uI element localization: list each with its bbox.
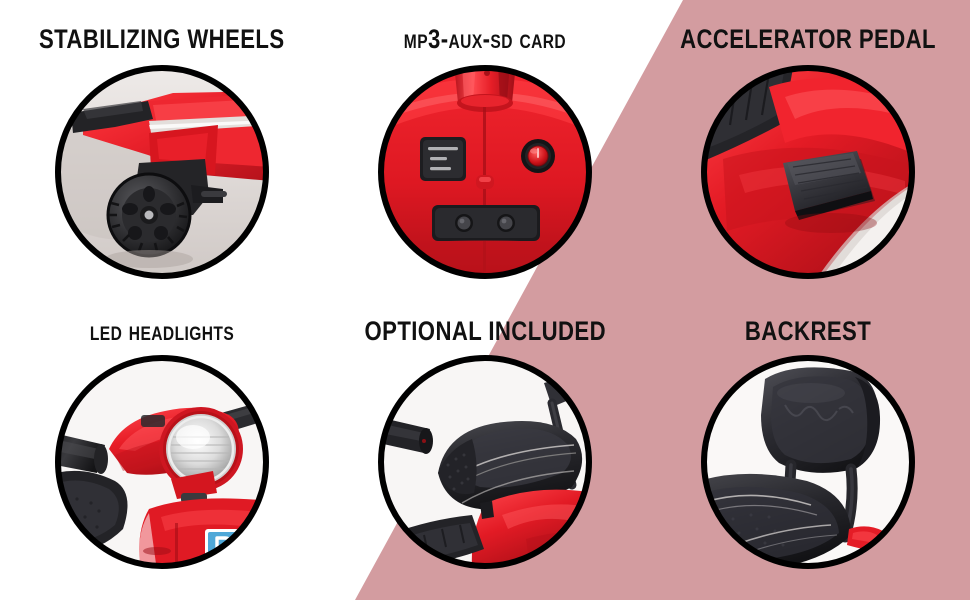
feature-photo-led-headlights bbox=[53, 353, 271, 571]
feature-photo-optional-included bbox=[376, 353, 594, 571]
feature-photo-backrest bbox=[699, 353, 917, 571]
feature-photo-stabilizing-wheels bbox=[53, 63, 271, 281]
feature-title-stabilizing-wheels: Stabilizing wheels bbox=[39, 26, 285, 53]
feature-photo-accelerator-pedal bbox=[699, 63, 917, 281]
feature-title-mp3-aux-sd-card: MP3-AUX-SD card bbox=[404, 26, 566, 53]
feature-cell-backrest: Backrest bbox=[647, 300, 970, 600]
feature-title-backrest: Backrest bbox=[745, 318, 871, 345]
feature-title-optional-included: Optional included bbox=[364, 318, 606, 345]
feature-cell-stabilizing-wheels: Stabilizing wheels bbox=[0, 0, 323, 300]
feature-cell-accelerator-pedal: Accelerator pedal bbox=[647, 0, 970, 300]
feature-photo-mp3-aux-sd-card bbox=[376, 63, 594, 281]
feature-title-accelerator-pedal: Accelerator pedal bbox=[680, 26, 936, 53]
feature-cell-optional-included: Optional included bbox=[323, 300, 646, 600]
feature-cell-mp3-aux-sd-card: MP3-AUX-SD card bbox=[323, 0, 646, 300]
feature-grid: Stabilizing wheels bbox=[0, 0, 970, 600]
feature-cell-led-headlights: LED headlights bbox=[0, 300, 323, 600]
feature-collage: Stabilizing wheels bbox=[0, 0, 970, 600]
feature-title-led-headlights: LED headlights bbox=[89, 318, 233, 345]
